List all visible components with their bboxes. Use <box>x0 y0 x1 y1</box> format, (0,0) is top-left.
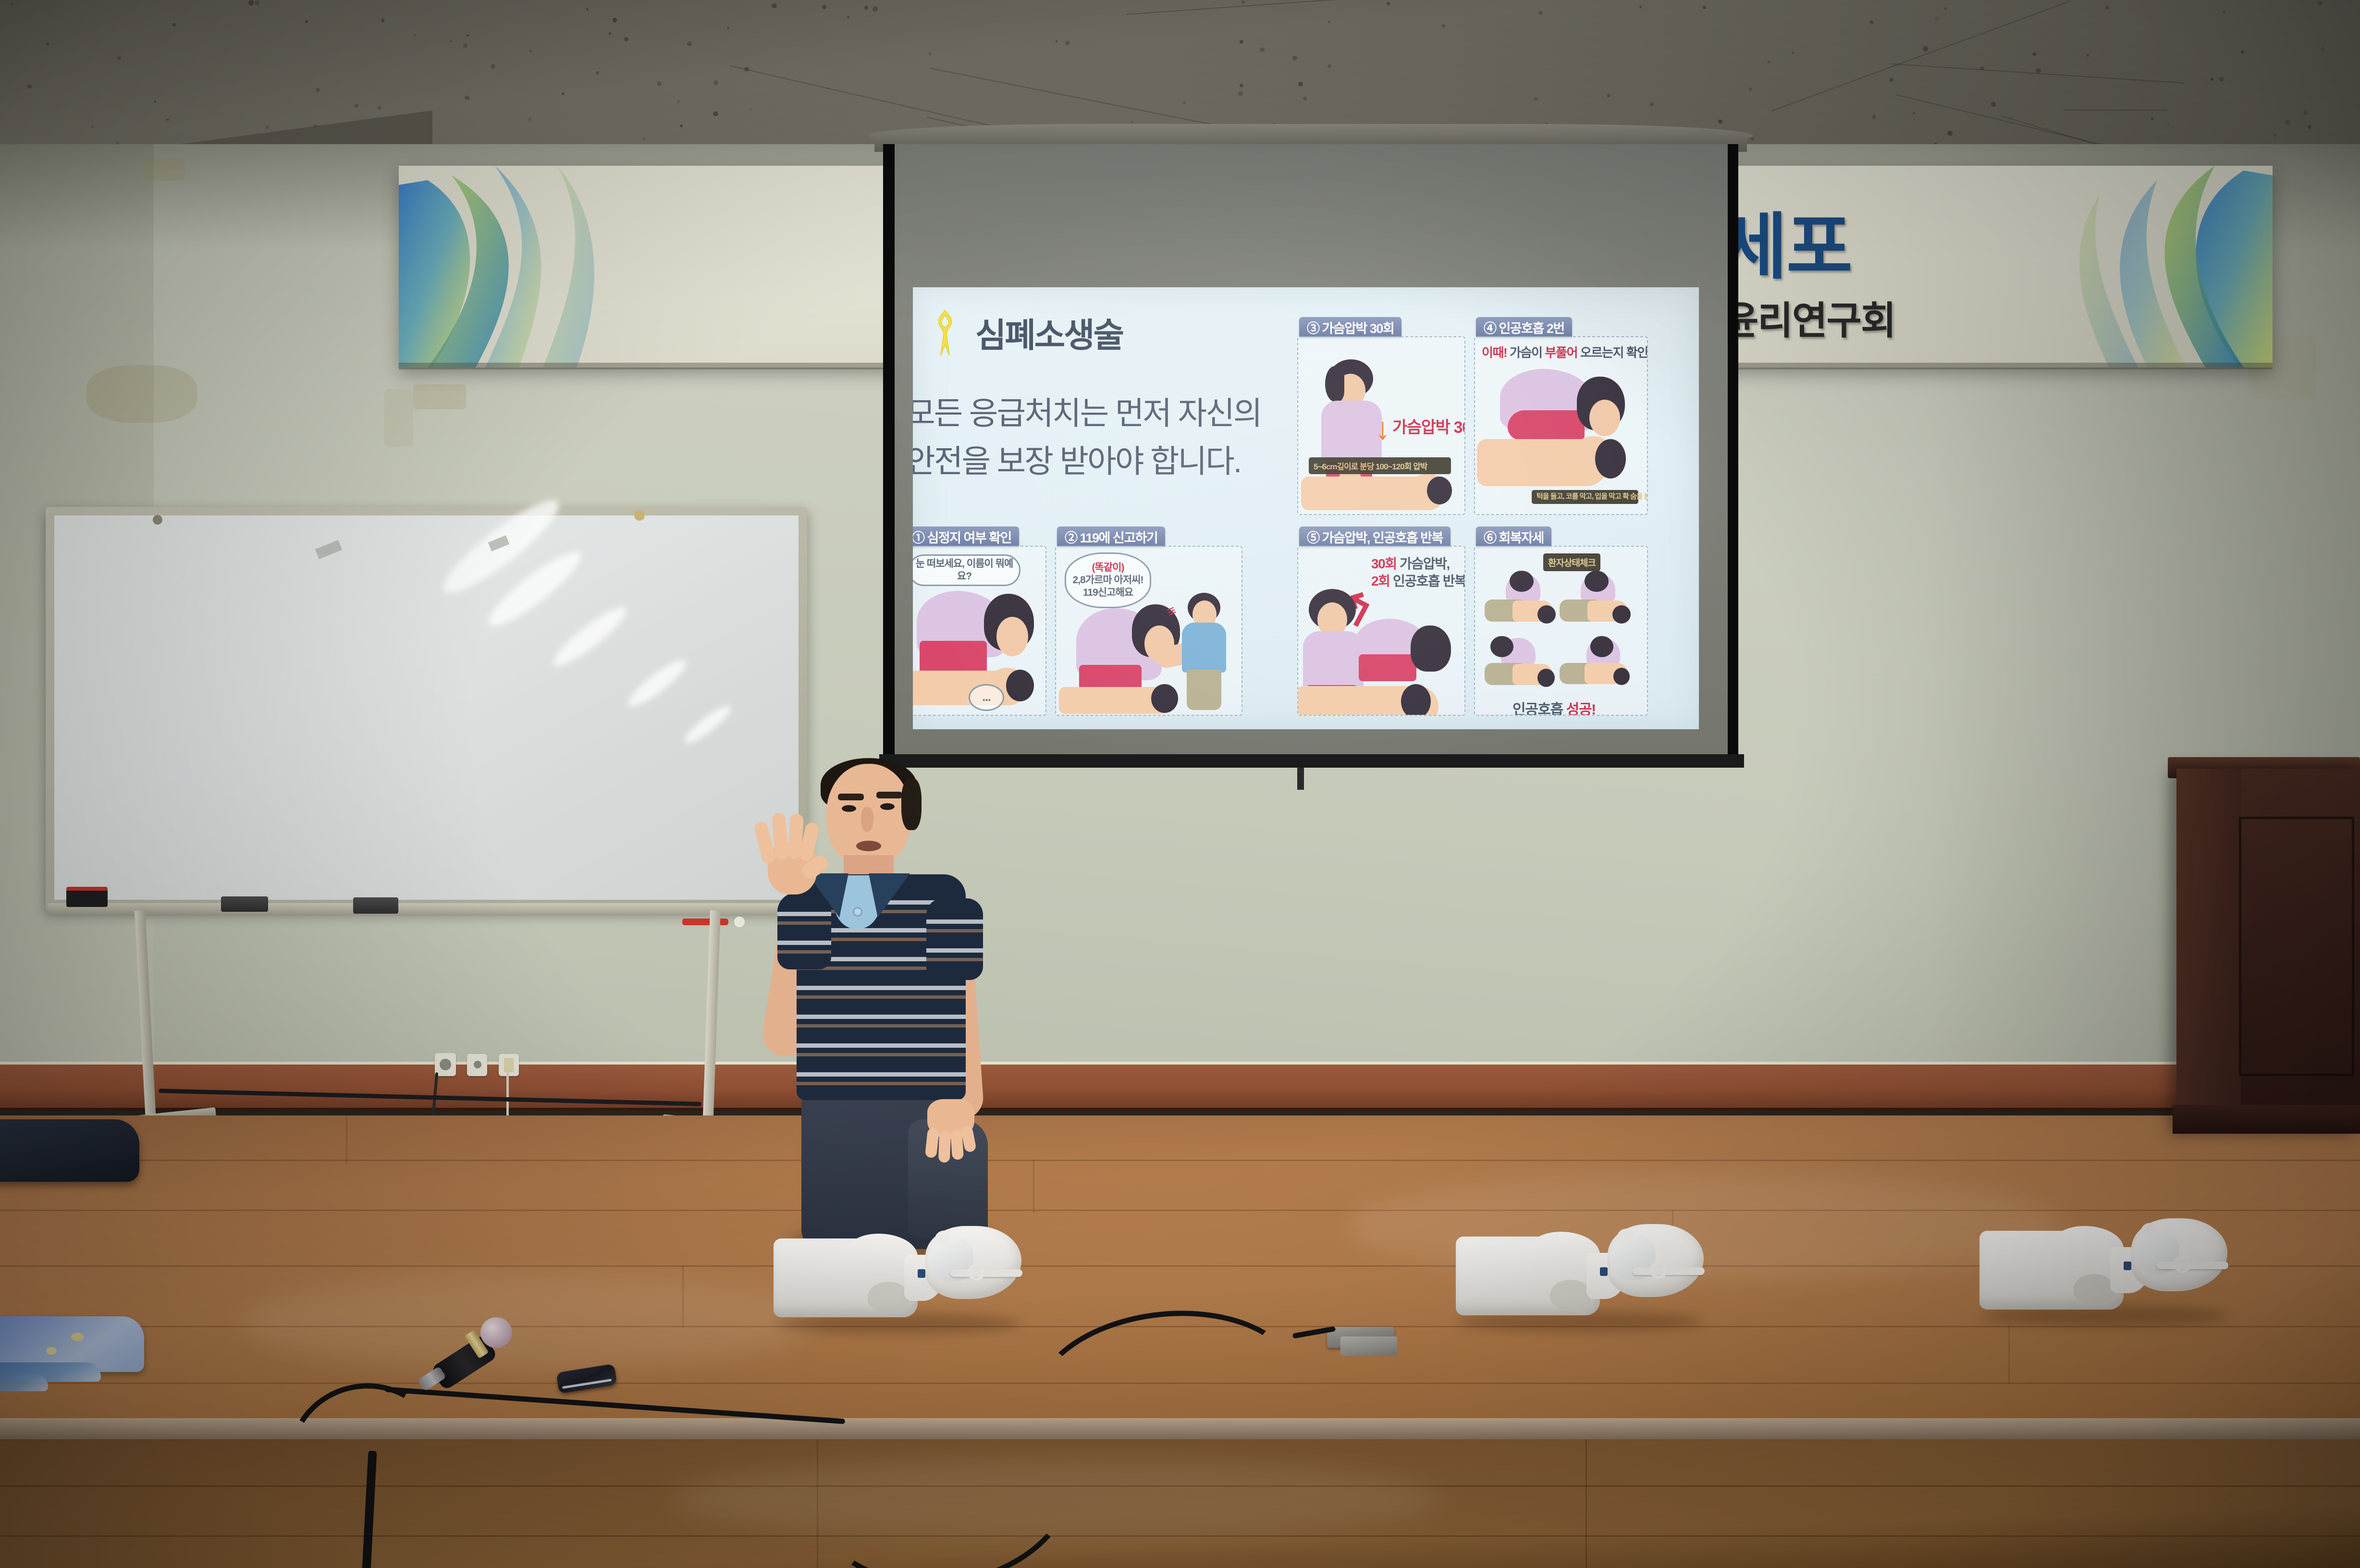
ceiling-speck <box>1869 20 1874 24</box>
slide-panel-4-note-suffix: 오르는지 확인 <box>1580 345 1648 360</box>
wall-patch-b <box>144 159 184 181</box>
presenter-hair-side <box>901 778 922 830</box>
compression-arrow-icon: ↓ <box>1375 413 1390 444</box>
manikin-3-chest-pad <box>2074 1274 2115 1304</box>
ceiling-speck <box>847 16 850 19</box>
manikin-3-chin-strap <box>2156 1262 2228 1269</box>
ceiling-speck <box>2223 11 2225 13</box>
coax-jack-hole <box>474 1061 481 1068</box>
slide-panel-1-box: 눈 떠보세요, 이름이 뭐예요? ... <box>913 546 1046 716</box>
slide-panel-2-speech: (똑같이) 2,8가르마 아저씨! 119신고해요 <box>1065 552 1151 608</box>
slide-panel-2: ② 119에 신고하기 (똑같이) 2,8가르마 아저씨! 119신고해요 <box>1055 527 1242 716</box>
stage-floor-port-lid[interactable] <box>1340 1336 1397 1356</box>
slide-panel-5: ⑤ 가슴압박, 인공호흡 반복 30회 가슴압박, 2회 인공호흡 반복 ↰ <box>1297 527 1465 716</box>
slide-panel-1-speech: 눈 떠보세요, 이름이 뭐예요? <box>913 554 1020 586</box>
slide-panel-5-note-1-accent: 30회 <box>1371 556 1397 571</box>
manikin-1-chin-strap <box>950 1269 1022 1277</box>
slide-panel-6-caption: 환자상태체크 <box>1543 553 1600 571</box>
slide-panel-2-speech-1: (똑같이) <box>1073 562 1143 574</box>
slide-panel-3-box: ↓ 가슴압박 30회 5~6cm깊이로 분당 100~120회 압박 <box>1297 336 1465 515</box>
slide-panel-3-caption: 5~6cm깊이로 분당 100~120회 압박 <box>1309 457 1451 474</box>
recovery-pose-2 <box>1560 574 1631 631</box>
presenter-right-sleeve <box>926 898 983 980</box>
ceiling-speck <box>1328 21 1330 23</box>
ceiling-speck <box>822 5 826 9</box>
ceiling-speck <box>642 137 645 140</box>
presenter-left-sleeve <box>777 893 831 969</box>
manikin-2-chin-strap <box>1633 1267 1705 1275</box>
slide-panel-4-note: 이때! 가슴이 부풀어 오르는지 확인 <box>1482 345 1648 361</box>
baseboard-shadow <box>0 1108 2360 1115</box>
slide-body-text: 모든 응급처치는 먼저 자신의 안전을 보장 받아야 합니다. <box>913 389 1286 486</box>
ceiling-speck <box>2151 118 2153 120</box>
ceiling-speck <box>873 6 878 12</box>
ceiling-speck <box>2318 1 2322 5</box>
ceiling-speck <box>562 92 565 95</box>
ceiling-speck <box>2308 125 2311 128</box>
slide-panel-6-tab: ⑥ 회복자세 <box>1476 527 1551 547</box>
slide-panel-1-thought: ... <box>969 684 1004 711</box>
slide-panel-2-box: (똑같이) 2,8가르마 아저씨! 119신고해요 <box>1055 546 1242 716</box>
presenter-resting-hand <box>925 1099 988 1163</box>
slide-panel-3: ③ 가슴압박 30회 ↓ 가슴압박 30회 5~6cm깊이로 분당 100~12… <box>1297 317 1465 515</box>
ceiling-speck <box>2304 110 2308 114</box>
manikin-1-chest-pad <box>868 1282 909 1311</box>
slide-panel-4: ④ 인공호흡 2번 이때! 가슴이 부풀어 오르는지 확인 턱을 들고, 코 <box>1474 317 1648 515</box>
ceiling-speck <box>1718 120 1722 124</box>
slide-panel-5-box: 30회 가슴압박, 2회 인공호흡 반복 ↰ <box>1297 546 1465 716</box>
slide-panel-4-box: 이때! 가슴이 부풀어 오르는지 확인 턱을 들고, 코를 막고, 입을 막고 … <box>1474 336 1648 515</box>
podium-base <box>2173 1105 2360 1134</box>
slide-panel-4-note-accent: 부풀어 <box>1545 345 1578 360</box>
slide-panel-5-tab: ⑤ 가슴압박, 인공호흡 반복 <box>1299 527 1450 547</box>
lecture-hall-scene: 생명공학 줄기세포 일시 2014년 5월 주관 생명윤리연구회 심폐소생술 모… <box>0 0 2360 1568</box>
slide-panel-4-note-prefix: 이때! <box>1482 345 1507 360</box>
slide-body-line-1: 모든 응급처치는 먼저 자신의 <box>913 389 1286 437</box>
slide-body-line-2: 안전을 보장 받아야 합니다. <box>913 437 1286 485</box>
wall-stain <box>86 365 197 423</box>
presenter[interactable] <box>750 754 1019 1263</box>
whiteboard-glare-5 <box>680 701 735 748</box>
wall-patch-a <box>413 384 466 409</box>
whiteboard-tape-1 <box>315 540 342 559</box>
light-switch-rocker[interactable] <box>504 1058 514 1072</box>
cpr-manikin-1[interactable] <box>774 1223 1033 1338</box>
ceiling-speck <box>1056 40 1057 42</box>
whiteboard-glare-3 <box>548 600 633 673</box>
ceiling-speck <box>2219 77 2224 82</box>
presentation-slide: 심폐소생술 모든 응급처치는 먼저 자신의 안전을 보장 받아야 합니다. ③ … <box>913 287 1699 729</box>
power-outlet-hole <box>440 1059 451 1070</box>
slide-panel-4-note-mid: 가슴이 <box>1510 345 1542 360</box>
ceiling-speck <box>1240 40 1243 44</box>
ceiling-speck <box>167 119 169 121</box>
slide-panel-5-note-2: 인공호흡 반복 <box>1393 574 1465 588</box>
screen-edge-right <box>1728 144 1738 759</box>
ceiling-speck <box>1260 48 1265 52</box>
manikin-2-ear <box>1650 1262 1667 1279</box>
ceiling-speck <box>2036 68 2040 73</box>
yellow-ribbon-icon <box>934 309 956 356</box>
screen-edge-left <box>883 144 894 759</box>
presenter-nose <box>861 807 873 832</box>
whiteboard-glare-4 <box>623 654 691 712</box>
ceiling-speck <box>354 104 358 108</box>
presenter-mouth <box>856 841 881 851</box>
banner-wave-right <box>1907 166 2273 367</box>
manikin-1-port <box>918 1269 925 1278</box>
ceiling-speck <box>1240 84 1243 87</box>
ceiling-speck <box>727 27 729 29</box>
presenter-raised-hand <box>754 811 824 893</box>
cloth-accent-2 <box>46 1347 57 1355</box>
tray-red-marker[interactable] <box>682 919 728 925</box>
ceiling-speck <box>27 85 31 88</box>
ceiling-speck <box>750 108 752 110</box>
ceiling-speck <box>1935 16 1940 21</box>
whiteboard-tray <box>48 903 807 916</box>
coax-jack[interactable] <box>467 1054 487 1076</box>
ceiling-speck <box>381 19 385 22</box>
ceiling-speck <box>864 6 868 9</box>
ceiling-speck <box>1947 131 1953 136</box>
ceiling-speck <box>2033 52 2036 56</box>
ceiling-speck <box>248 0 253 5</box>
manikin-2-chest-pad <box>1550 1280 1591 1310</box>
ceiling-speck <box>596 71 599 74</box>
cpr-manikin-3[interactable] <box>1979 1215 2239 1331</box>
folded-blue-cloth-3[interactable] <box>0 1374 48 1391</box>
tray-eraser-black-1[interactable] <box>221 896 268 912</box>
slide-panel-3-note: 가슴압박 30회 <box>1392 417 1465 438</box>
slide-panel-1-tab: ① 심정지 여부 확인 <box>913 527 1019 547</box>
ceiling-speck <box>465 96 469 100</box>
slide-title: 심폐소생술 <box>975 308 1123 357</box>
switch-wire <box>506 1072 509 1118</box>
slide-panel-5-note-2-accent: 2회 <box>1371 574 1390 588</box>
slide-panel-6-box: 환자상태체크 <box>1474 546 1648 716</box>
slide-panel-4-tab: ④ 인공호흡 2번 <box>1476 317 1572 337</box>
recovery-pose-4 <box>1560 638 1631 696</box>
recovery-pose-1 <box>1485 574 1556 631</box>
ceiling-speck <box>463 43 467 48</box>
slide-panel-1: ① 심정지 여부 확인 눈 떠보세요, 이름이 뭐예요? ... <box>913 527 1046 716</box>
whiteboard-surface[interactable] <box>54 515 799 900</box>
cloth-accent-1 <box>71 1333 84 1341</box>
tray-marker-cap[interactable] <box>734 917 745 927</box>
whiteboard-knob-left <box>153 515 162 525</box>
ceiling-speck <box>1923 46 1928 51</box>
projector-screen-pull-handle[interactable] <box>1297 768 1304 790</box>
slide-panel-6-footer-plain: 인공호흡 <box>1512 702 1563 716</box>
manikin-2-port <box>1600 1267 1608 1276</box>
tray-eraser-black-2[interactable] <box>353 897 398 914</box>
manikin-3-port <box>2124 1262 2131 1270</box>
ceiling-speck <box>613 18 617 23</box>
slide-panel-3-tab: ③ 가슴압박 30회 <box>1299 317 1401 337</box>
bystander-figure-2 <box>1177 593 1235 708</box>
ceiling-speck <box>1303 97 1307 100</box>
manikin-3-ear <box>2174 1256 2191 1273</box>
whiteboard-knob-right <box>634 510 645 521</box>
wall-patch-c <box>384 389 413 447</box>
ceiling-speck <box>1767 61 1770 64</box>
ceiling-speck <box>1387 2 1390 5</box>
ceiling-speck <box>1890 78 1893 82</box>
ceiling-speck <box>2321 47 2324 50</box>
ceiling-speck <box>1238 91 1243 96</box>
ceiling-speck <box>687 41 692 46</box>
slide-panel-2-tab: ② 119에 신고하기 <box>1057 527 1165 547</box>
ceiling-speck <box>1944 7 1947 10</box>
ceiling-speck <box>117 56 121 60</box>
ceiling-speck <box>1991 102 1996 107</box>
ceiling-speck <box>609 32 611 35</box>
microphone-grille <box>480 1317 512 1348</box>
tray-eraser-red[interactable] <box>66 887 108 907</box>
ceiling-speck <box>624 37 628 41</box>
light-switch[interactable] <box>499 1054 519 1076</box>
podium-side-panel <box>2176 769 2241 1134</box>
slide-header: 심폐소생술 <box>934 308 1123 357</box>
recovery-pose-3 <box>1485 638 1556 696</box>
ceiling-speck <box>529 50 532 52</box>
slide-panel-6: ⑥ 회복자세 환자상태체크 <box>1474 527 1648 716</box>
banner-wave-left <box>399 166 764 367</box>
slide-panel-4-caption: 턱을 들고, 코를 막고, 입을 막고 확 숨을 불어넣어요 <box>1532 490 1638 504</box>
ceiling-speck <box>713 111 718 117</box>
slide-panel-5-note: 30회 가슴압박, 2회 인공호흡 반복 <box>1371 555 1465 590</box>
manikin-1-ear <box>968 1263 985 1281</box>
ceiling-speck <box>154 100 156 103</box>
slide-panel-6-footer: 인공호흡 성공! <box>1512 700 1596 716</box>
ceiling-speck <box>1751 137 1754 140</box>
slide-panel-2-speech-3: 119신고해요 <box>1073 587 1143 599</box>
podium-front-panel <box>2239 817 2354 1076</box>
equipment-bag[interactable] <box>0 1119 139 1182</box>
slide-panel-5-note-1: 가슴압박, <box>1400 556 1450 571</box>
ceiling-speck <box>1650 102 1654 106</box>
slide-panel-6-footer-accent: 성공! <box>1566 702 1596 716</box>
ceiling-speck <box>2241 50 2244 54</box>
slide-panel-2-speech-2: 2,8가르마 아저씨! <box>1073 574 1143 587</box>
ceiling-speck <box>2285 120 2290 125</box>
ceiling-speck <box>929 52 931 55</box>
ceiling-speck <box>1792 52 1794 54</box>
cpr-manikin-2[interactable] <box>1456 1221 1715 1336</box>
presenter-shirt-button <box>853 907 862 917</box>
ceiling-speck <box>772 3 777 9</box>
ceiling-speck <box>313 124 317 128</box>
baseboard <box>0 1065 2360 1111</box>
